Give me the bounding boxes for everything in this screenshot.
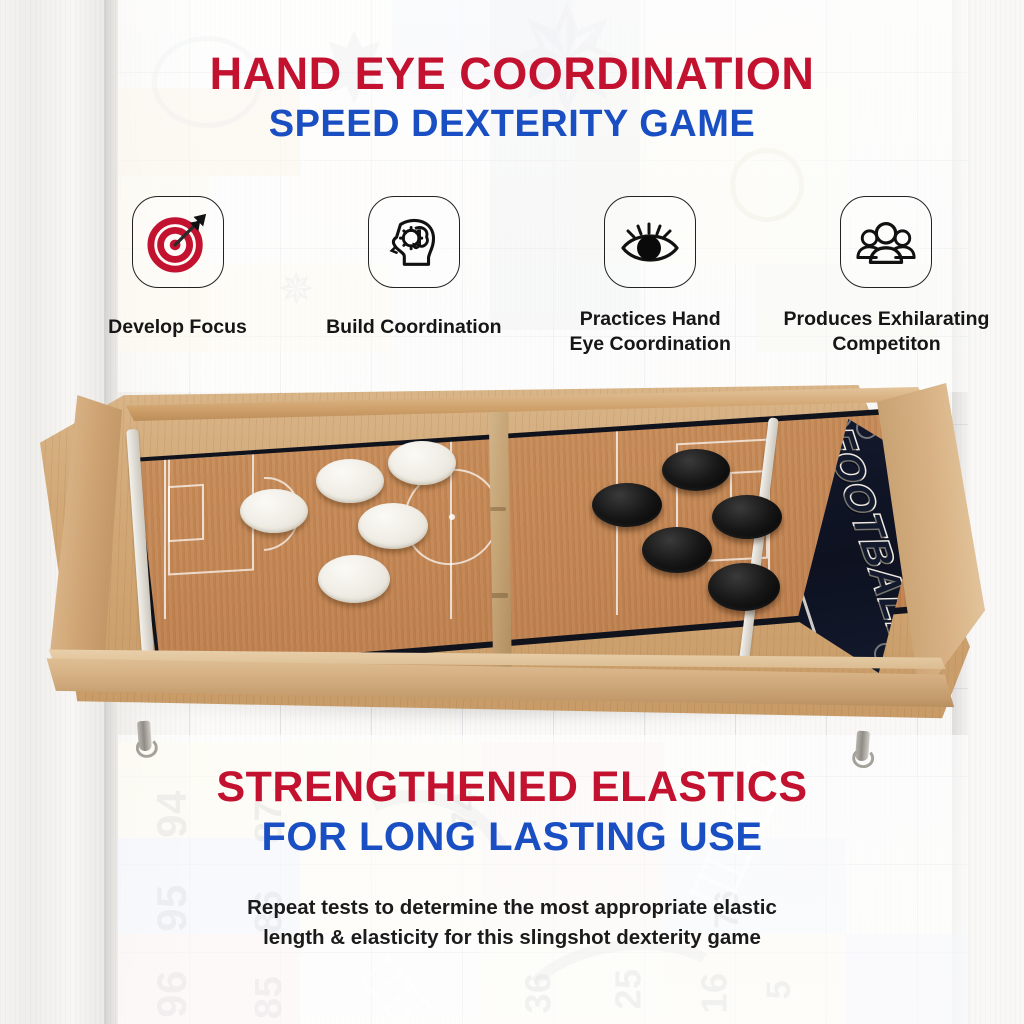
infographic-canvas: ✸ ✵ ✵ 94 87 74 95 86 76 96 85 36 25 16 5 <box>0 0 1024 1024</box>
eye-icon <box>618 210 682 274</box>
elastic-hook-right <box>855 731 870 762</box>
bottom-subcopy: Repeat tests to determine the most appro… <box>150 893 874 952</box>
bottom-headline-block: STRENGTHENED ELASTICS FOR LONG LASTING U… <box>0 765 1024 858</box>
feature-tile <box>368 196 460 288</box>
top-headline-block: HAND EYE COORDINATION SPEED DEXTERITY GA… <box>0 50 1024 145</box>
bottom-headline-line2: FOR LONG LASTING USE <box>0 816 1024 858</box>
feature-develop-focus: Develop Focus <box>60 196 295 340</box>
field-goal-line-left <box>164 433 166 619</box>
top-headline-line1: HAND EYE COORDINATION <box>0 50 1024 97</box>
feature-row: Develop Focus <box>60 196 1004 357</box>
puck-white <box>358 503 428 549</box>
feature-label: Develop Focus <box>108 315 247 340</box>
bottom-subcopy-line2: length & elasticity for this slingshot d… <box>150 923 874 953</box>
feature-label: Produces Exhilarating Competiton <box>784 307 990 357</box>
puck-black <box>592 483 662 527</box>
feature-tile <box>132 196 224 288</box>
head-gear-brain-icon <box>383 211 445 273</box>
feature-practices-hand-eye: Practices Hand Eye Coordination <box>533 196 768 357</box>
feature-label: Practices Hand Eye Coordination <box>569 307 730 357</box>
field-goal-box-left <box>168 484 204 542</box>
puck-black <box>662 449 730 491</box>
puck-white <box>318 555 390 603</box>
puck-white <box>240 489 308 533</box>
feature-produces-competition: Produces Exhilarating Competiton <box>769 196 1004 357</box>
puck-white <box>388 441 456 485</box>
bottom-headline-line1: STRENGTHENED ELASTICS <box>0 765 1024 810</box>
feature-tile <box>604 196 696 288</box>
people-group-icon <box>855 211 917 273</box>
game-board: FOOTBALL <box>30 383 990 773</box>
feature-build-coordination: Build Coordination <box>296 196 531 340</box>
puck-black <box>712 495 782 539</box>
feature-label: Build Coordination <box>326 315 501 340</box>
field-center-spot <box>449 514 455 520</box>
puck-white <box>316 459 384 503</box>
top-headline-line2: SPEED DEXTERITY GAME <box>0 105 1024 145</box>
bottom-subcopy-line1: Repeat tests to determine the most appro… <box>150 893 874 923</box>
elastic-hook-left <box>137 721 152 752</box>
target-dart-icon <box>147 211 209 273</box>
puck-black <box>642 527 712 573</box>
puck-black <box>708 563 780 611</box>
product-photo: FOOTBALL <box>30 383 990 773</box>
feature-tile <box>840 196 932 288</box>
